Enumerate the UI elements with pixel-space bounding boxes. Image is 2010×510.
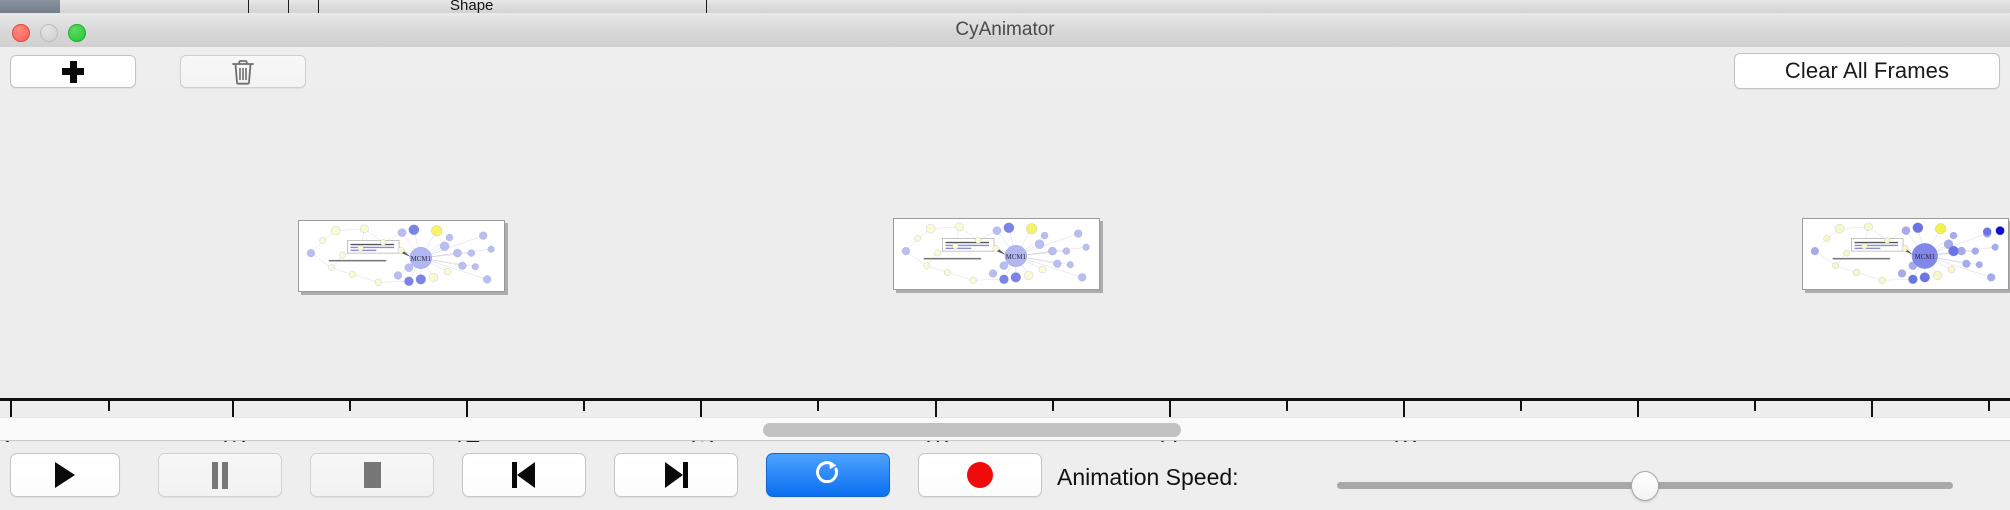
animation-speed-label: Animation Speed: [1057,464,1239,491]
timeline-frame[interactable]: MCM1 [298,220,505,292]
skip-forward-icon [664,462,688,488]
play-button[interactable] [10,453,120,497]
timeline-panel[interactable]: MCM1MCM1MCM1 2131415161718 Seconds [0,90,2010,415]
tick-minor [583,401,585,411]
delete-frame-button[interactable] [180,55,306,88]
tick-minor [1286,401,1288,411]
toolbar: Clear All Frames [0,47,2010,91]
skip-end-button[interactable] [614,453,738,497]
timeline-scrollbar[interactable] [0,417,2010,441]
transport-bar: Animation Speed: [0,442,2010,510]
cyanimator-window: Shape CyAnimator Clear All Frames MCM1MC… [0,0,2010,510]
scrollbar-thumb[interactable] [763,423,1181,437]
skip-start-button[interactable] [462,453,586,497]
record-icon [967,462,993,488]
loop-button[interactable] [766,453,890,497]
tick-minor [108,401,110,411]
svg-text:MCM1: MCM1 [1915,254,1936,261]
skip-back-icon [512,462,536,488]
pause-button [158,453,282,497]
animation-speed-slider-knob[interactable] [1631,471,1659,501]
loop-icon [813,458,843,493]
pause-icon [211,462,229,489]
trash-icon [231,58,255,85]
tick-minor [349,401,351,411]
stop-icon [364,462,381,488]
svg-text:MCM1: MCM1 [1006,254,1027,261]
stop-button [310,453,434,497]
timeline-frame[interactable]: MCM1 [1802,218,2009,290]
timeline-frame[interactable]: MCM1 [893,218,1100,290]
add-frame-button[interactable] [10,55,136,88]
tick-minor [1052,401,1054,411]
clear-all-frames-button[interactable]: Clear All Frames [1734,53,2000,89]
tick-minor [1988,401,1990,411]
tick-minor [1754,401,1756,411]
tick-minor [1520,401,1522,411]
plus-icon [62,61,84,83]
background-window-label: Shape [450,0,493,14]
play-icon [55,462,75,488]
window-title: CyAnimator [0,13,2010,47]
title-bar: CyAnimator [0,13,2010,48]
timeline-axis-line [0,398,2010,401]
background-window-strip: Shape [0,0,2010,14]
record-button[interactable] [918,453,1042,497]
svg-text:MCM1: MCM1 [411,256,432,263]
tick-minor [817,401,819,411]
